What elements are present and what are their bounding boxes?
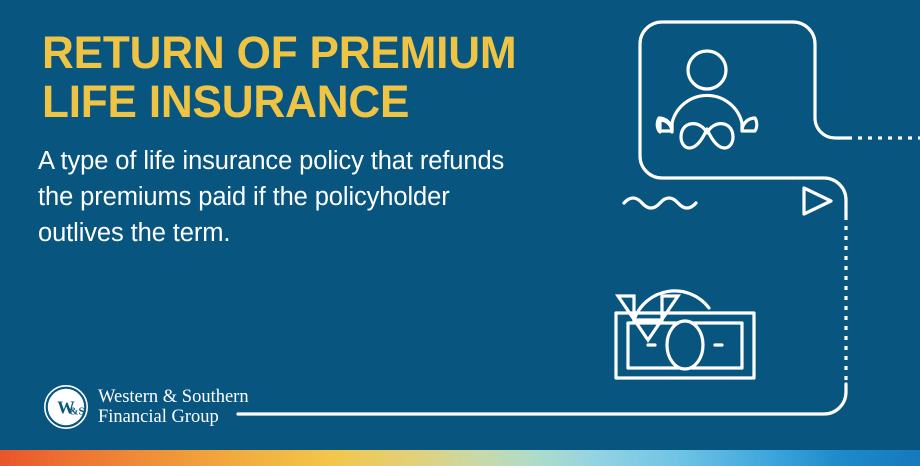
ws-monogram-icon: W &S — [42, 383, 90, 431]
logo-name-line-2: Financial Group — [98, 407, 249, 428]
logo-name-line-1: Western & Southern — [98, 387, 249, 408]
subhead-line-2: the premiums paid if the policyholder — [38, 179, 578, 215]
wavy-line-icon — [624, 198, 696, 208]
headline: RETURN OF PREMIUM LIFE INSURANCE — [42, 28, 602, 126]
subhead-line-3: outlives the term. — [38, 215, 578, 251]
connector-curve-down — [793, 178, 846, 216]
footer-gradient-bar — [0, 450, 920, 466]
panel-outline-right — [793, 22, 848, 138]
baseline-rule — [238, 384, 846, 414]
banner-canvas: RETURN OF PREMIUM LIFE INSURANCE A type … — [0, 0, 920, 466]
svg-text:&S: &S — [69, 406, 84, 418]
headline-line-1: RETURN OF PREMIUM — [42, 28, 591, 77]
subhead-line-1: A type of life insurance policy that ref… — [38, 143, 578, 179]
panel-outline-left — [640, 22, 793, 178]
logo-lockup: W &S Western & Southern Financial Group — [42, 383, 249, 431]
subhead: A type of life insurance policy that ref… — [38, 143, 578, 251]
logo-wordmark: Western & Southern Financial Group — [98, 387, 249, 428]
play-triangle-icon — [804, 188, 831, 214]
person-holding-heart-icon — [657, 51, 756, 153]
money-return-arrow-icon — [616, 291, 754, 378]
headline-line-2: LIFE INSURANCE — [42, 77, 591, 126]
